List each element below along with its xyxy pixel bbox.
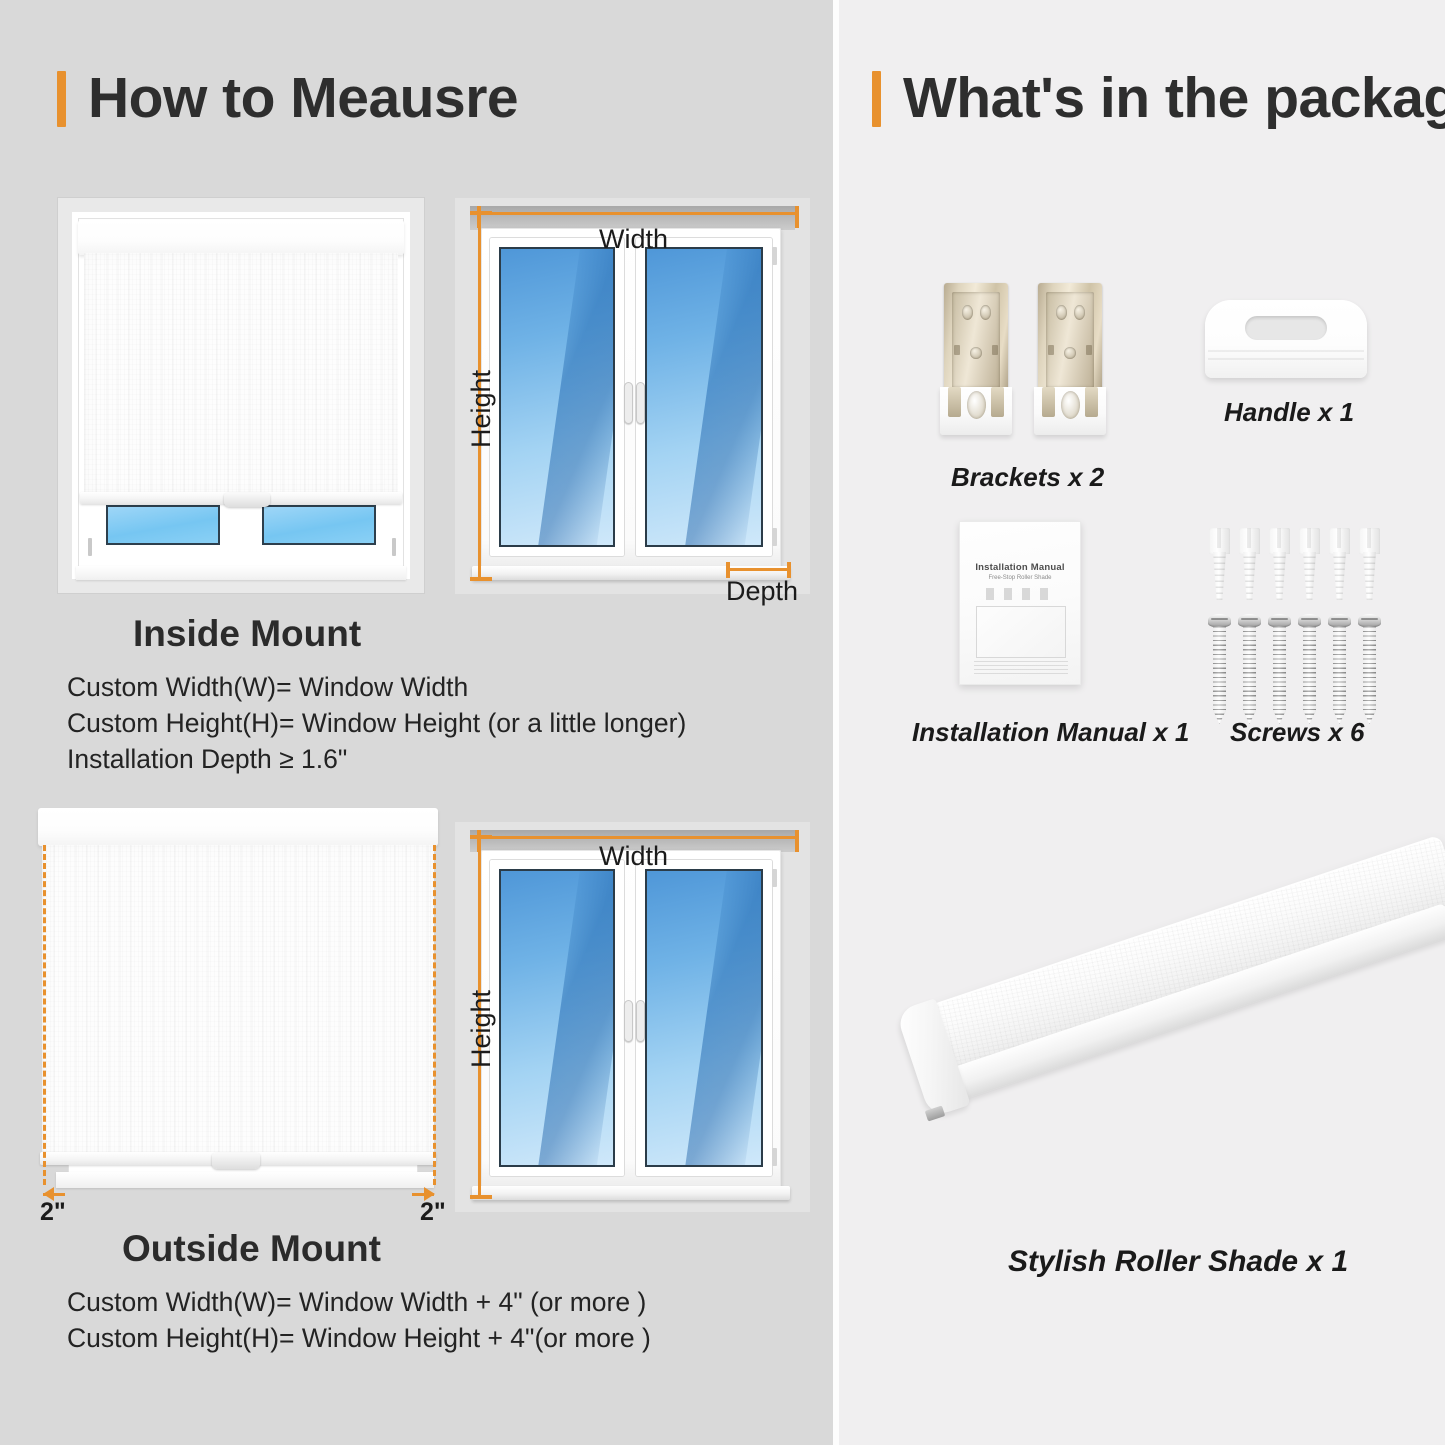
manual-cover-title: Installation Manual bbox=[960, 562, 1080, 573]
how-to-measure-heading-text: How to Meausre bbox=[88, 70, 518, 127]
package-heading: What's in the package bbox=[872, 70, 1445, 127]
infographic-page: How to Meausre What's in the package bbox=[0, 0, 1445, 1445]
overhang-left-label: 2" bbox=[40, 1198, 66, 1227]
bracket-icon bbox=[1034, 283, 1106, 435]
handle-label: Handle x 1 bbox=[1224, 397, 1354, 428]
inside-mount-spec-3: Installation Depth ≥ 1.6" bbox=[67, 744, 347, 775]
height-label-outside: Height bbox=[466, 990, 497, 1068]
width-label-outside: Width bbox=[599, 841, 668, 872]
wall-anchor-icon bbox=[1329, 528, 1350, 600]
overhang-right-label: 2" bbox=[420, 1198, 446, 1227]
inside-mount-title: Inside Mount bbox=[133, 613, 361, 655]
roller-shade-icon bbox=[900, 880, 1445, 1220]
screw-icon bbox=[1328, 614, 1351, 724]
wall-anchor-icon bbox=[1359, 528, 1380, 600]
wall-anchor-icon bbox=[1299, 528, 1320, 600]
manual-icon: Installation Manual Free-Stop Roller Sha… bbox=[959, 521, 1081, 685]
wall-anchor-icon bbox=[1239, 528, 1260, 600]
handle-icon bbox=[1205, 300, 1367, 378]
bracket-icon bbox=[940, 283, 1012, 435]
manual-cover-subtitle: Free-Stop Roller Shade bbox=[960, 575, 1080, 581]
how-to-measure-heading: How to Meausre bbox=[57, 70, 518, 127]
screw-icon bbox=[1358, 614, 1381, 724]
accent-bar-icon bbox=[57, 71, 66, 127]
screws-label: Screws x 6 bbox=[1230, 717, 1364, 748]
brackets-label: Brackets x 2 bbox=[951, 462, 1104, 493]
inside-mount-spec-1: Custom Width(W)= Window Width bbox=[67, 672, 468, 703]
height-label-inside: Height bbox=[466, 370, 497, 448]
manual-label: Installation Manual x 1 bbox=[912, 717, 1189, 748]
wall-anchor-icon bbox=[1269, 528, 1290, 600]
accent-bar-icon bbox=[872, 71, 881, 127]
outside-mount-spec-2: Custom Height(H)= Window Height + 4"(or … bbox=[67, 1323, 651, 1354]
wall-anchor-icon bbox=[1209, 528, 1230, 600]
screw-icon bbox=[1268, 614, 1291, 724]
screw-icon bbox=[1298, 614, 1321, 724]
width-label-inside: Width bbox=[599, 224, 668, 255]
outside-mount-spec-1: Custom Width(W)= Window Width + 4" (or m… bbox=[67, 1287, 646, 1318]
screw-icon bbox=[1238, 614, 1261, 724]
screw-icon bbox=[1208, 614, 1231, 724]
inside-mount-spec-2: Custom Height(H)= Window Height (or a li… bbox=[67, 708, 686, 739]
roller-shade-label: Stylish Roller Shade x 1 bbox=[1008, 1245, 1348, 1279]
package-heading-text: What's in the package bbox=[903, 70, 1445, 127]
depth-label-inside: Depth bbox=[726, 576, 798, 607]
outside-mount-title: Outside Mount bbox=[122, 1228, 381, 1270]
